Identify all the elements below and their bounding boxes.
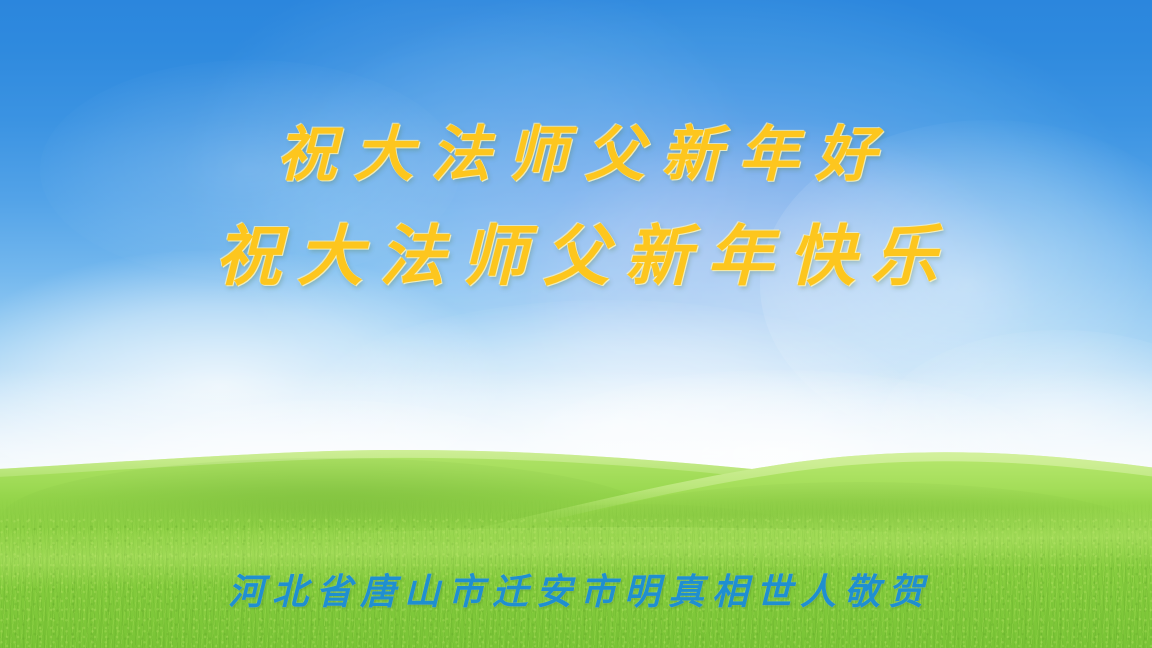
greeting-card-image: 祝大法师父新年好 祝大法师父新年快乐 河北省唐山市迁安市明真相世人敬贺	[0, 0, 1152, 648]
card-text-layer: 祝大法师父新年好 祝大法师父新年快乐 河北省唐山市迁安市明真相世人敬贺	[0, 0, 1152, 648]
signature-line: 河北省唐山市迁安市明真相世人敬贺	[0, 563, 1152, 615]
greeting-line-1: 祝大法师父新年好	[0, 106, 1152, 193]
greeting-line-2: 祝大法师父新年快乐	[0, 203, 1152, 299]
